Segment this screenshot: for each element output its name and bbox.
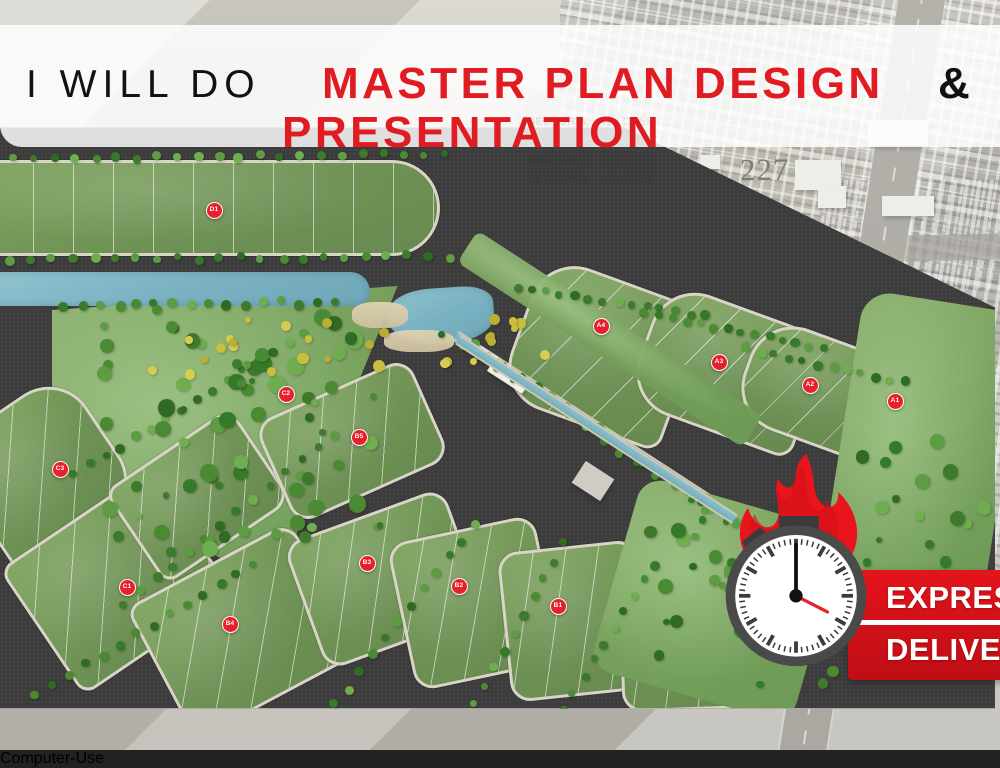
plan-tree: [238, 526, 250, 538]
plan-tree: [539, 574, 546, 581]
plan-tree: [131, 431, 141, 441]
plan-tree: [901, 376, 910, 385]
plan-tree: [669, 314, 677, 322]
plan-tree: [392, 617, 402, 627]
plan-tree: [131, 481, 142, 492]
plan-tree: [377, 522, 384, 529]
lot-marker-b2[interactable]: B2: [451, 578, 468, 595]
plan-tree: [650, 561, 660, 571]
plan-tree: [431, 568, 441, 578]
plan-tree: [158, 399, 176, 417]
plan-tree: [234, 455, 247, 468]
lot-marker-b3[interactable]: B3: [359, 555, 376, 572]
plan-tree: [599, 641, 607, 649]
plan-tree: [233, 153, 243, 163]
plan-tree: [186, 548, 194, 556]
plan-tree: [215, 521, 224, 530]
plan-tree: [654, 650, 665, 661]
plan-tree: [248, 495, 258, 505]
plan-tree: [325, 381, 338, 394]
plan-tree: [289, 483, 304, 498]
plan-tree: [116, 301, 126, 311]
plan-tree: [167, 298, 176, 307]
plan-tree: [285, 338, 294, 347]
plan-tree: [305, 335, 312, 342]
plan-tree: [48, 681, 56, 689]
plan-tree: [489, 314, 500, 325]
plan-tree: [641, 575, 649, 583]
plan-tree: [116, 641, 125, 650]
plan-tree: [221, 300, 231, 310]
plan-tree: [69, 470, 77, 478]
plan-tree: [229, 338, 237, 346]
plan-tree: [166, 547, 176, 557]
plan-tree: [308, 500, 324, 516]
plan-tree: [540, 350, 550, 360]
plan-tree: [290, 515, 306, 531]
express-delivery-badge: EXPRESS DELIVERY: [700, 452, 1000, 712]
plan-tree: [320, 253, 328, 261]
plan-tree: [243, 361, 251, 369]
plan-tree: [154, 525, 169, 540]
plan-tree: [5, 256, 15, 266]
plan-tree: [804, 343, 812, 351]
plan-tree: [370, 393, 376, 399]
plan-tree: [313, 298, 322, 307]
plan-tree: [174, 253, 181, 260]
plan-tree: [251, 407, 265, 421]
plan-tree: [237, 252, 245, 260]
plan-tree: [420, 584, 428, 592]
plan-tree: [259, 297, 268, 306]
plan-tree: [299, 255, 308, 264]
plan-tree: [30, 691, 38, 699]
plan-tree: [471, 520, 480, 529]
plan-tree: [183, 601, 192, 610]
plan-tree: [100, 339, 114, 353]
plan-beach-sand: [352, 302, 408, 328]
plan-tree: [379, 328, 388, 337]
plan-tree: [173, 153, 181, 161]
lot-marker-a2[interactable]: A2: [802, 377, 819, 394]
plan-tree: [163, 492, 169, 498]
plan-tree: [200, 464, 218, 482]
title-banner: I WILL DO MASTER PLAN DESIGN & PRESENTAT…: [0, 25, 1000, 147]
plan-tree: [724, 324, 733, 333]
plan-tree: [195, 256, 204, 265]
plan-tree: [219, 531, 230, 542]
plan-tree: [307, 523, 317, 533]
plan-tree: [930, 434, 944, 448]
plan-tree: [297, 353, 308, 364]
plan-tree: [423, 252, 432, 261]
plan-tree: [639, 308, 648, 317]
plan-tree: [46, 254, 55, 263]
plan-tree: [148, 366, 157, 375]
title-ampersand: &: [938, 59, 970, 109]
plan-tree: [79, 301, 89, 311]
plan-tree: [741, 342, 750, 351]
express-label: EXPRESS: [886, 580, 1000, 616]
lot-marker-c3[interactable]: C3: [52, 461, 69, 478]
plan-tree: [843, 365, 852, 374]
title-highlight-line1: MASTER PLAN DESIGN: [322, 59, 884, 109]
plan-tree: [769, 350, 776, 357]
plan-tree: [70, 154, 79, 163]
plan-tree: [612, 625, 619, 632]
plan-tree: [349, 495, 366, 512]
plan-tree: [131, 628, 140, 637]
plan-tree: [615, 299, 624, 308]
lot-marker-c1[interactable]: C1: [119, 579, 136, 596]
plan-tree: [302, 472, 315, 485]
plan-tree: [231, 507, 240, 516]
thumbnail-canvas: 227: [0, 0, 1000, 750]
lot-marker-b4[interactable]: B4: [222, 616, 239, 633]
plan-tree: [299, 455, 306, 462]
plan-tree: [100, 417, 113, 430]
plan-tree: [333, 460, 344, 471]
legend-row: SECTOR D 66 LOTES: [528, 173, 654, 185]
stopwatch-icon: [720, 516, 872, 668]
plan-tree: [194, 152, 204, 162]
lot-marker-c2[interactable]: C2: [278, 386, 295, 403]
delivery-label: DELIVERY: [886, 632, 1000, 668]
plan-tree: [319, 429, 326, 436]
plan-tree: [198, 591, 206, 599]
plan-tree: [152, 305, 162, 315]
plan-tree: [671, 523, 686, 538]
plan-tree: [691, 533, 699, 541]
plan-tree: [305, 413, 314, 422]
plan-tree: [9, 154, 16, 161]
plan-tree: [81, 659, 89, 667]
plan-tree: [619, 607, 627, 615]
plan-tree: [133, 155, 142, 164]
plan-tree: [185, 336, 192, 343]
satellite-building: [818, 186, 846, 208]
parcel-number: 227: [740, 152, 790, 189]
plan-tree: [766, 332, 775, 341]
plan-tree: [511, 325, 518, 332]
plan-tree: [193, 395, 202, 404]
plan-tree: [294, 300, 305, 311]
plan-tree: [136, 586, 145, 595]
plan-tree: [440, 359, 449, 368]
plan-tree: [519, 611, 529, 621]
plan-tree: [113, 531, 124, 542]
legend-sector-name: SECTOR D: [528, 173, 600, 185]
plan-tree: [231, 570, 239, 578]
title-plain-text: I WILL DO: [26, 63, 261, 107]
plan-tree: [381, 634, 389, 642]
plan-tree: [670, 615, 683, 628]
plan-tree: [311, 399, 317, 405]
plan-tree: [340, 254, 348, 262]
plan-tree: [663, 619, 670, 626]
plan-tree: [550, 559, 558, 567]
lot-marker-b5[interactable]: B5: [351, 429, 368, 446]
plan-tree: [115, 444, 125, 454]
plan-tree: [487, 337, 496, 346]
plan-tree: [281, 468, 288, 475]
plan-tree: [583, 295, 592, 304]
lot-marker-a4[interactable]: A4: [593, 318, 610, 335]
plan-tree: [345, 686, 354, 695]
plan-tree: [559, 538, 567, 546]
plan-tree: [438, 331, 445, 338]
plan-tree: [885, 377, 892, 384]
legend-sector-lots: 66 LOTES: [600, 173, 654, 185]
plan-tree: [202, 541, 218, 557]
plan-tree: [119, 601, 127, 609]
plan-tree: [489, 663, 498, 672]
plan-tree: [179, 438, 189, 448]
plan-tree: [871, 373, 881, 383]
plan-tree: [628, 301, 635, 308]
plan-tree: [813, 361, 823, 371]
plan-tree: [201, 356, 207, 362]
plan-tree: [271, 529, 281, 539]
plan-tree: [97, 366, 112, 381]
lot-marker-a3[interactable]: A3: [711, 354, 728, 371]
plan-tree: [644, 526, 656, 538]
plan-tree: [26, 256, 34, 264]
plan-tree: [99, 652, 108, 661]
plan-tree: [215, 482, 222, 489]
plan-tree: [820, 344, 828, 352]
plan-tree: [457, 538, 466, 547]
plan-tree: [153, 572, 163, 582]
lot-marker-d1[interactable]: D1: [206, 202, 223, 219]
plan-tree: [166, 609, 174, 617]
plan-tree: [570, 291, 579, 300]
plan-tree: [93, 155, 101, 163]
plan-tree: [256, 255, 264, 263]
plan-tree: [700, 310, 709, 319]
plan-tree: [368, 649, 378, 659]
title-highlight-line2: PRESENTATION: [282, 108, 662, 158]
lot-marker-a1[interactable]: A1: [887, 393, 904, 410]
plan-tree: [528, 286, 535, 293]
plan-tree: [168, 563, 176, 571]
plan-tree: [331, 298, 339, 306]
plan-tree: [790, 338, 799, 347]
plan-tree: [217, 579, 227, 589]
plan-tree: [96, 301, 104, 309]
plan-tree: [582, 673, 590, 681]
lot-marker-b1[interactable]: B1: [550, 598, 567, 615]
plan-tree: [354, 667, 363, 676]
plan-tree: [736, 329, 744, 337]
plan-tree: [219, 412, 235, 428]
plan-tree: [531, 592, 540, 601]
plan-tree: [324, 356, 331, 363]
satellite-building: [882, 196, 934, 216]
plan-tree: [655, 311, 663, 319]
plan-tree: [446, 551, 454, 559]
plan-tree: [215, 152, 225, 162]
plan-tree: [58, 302, 68, 312]
plan-tree: [86, 459, 94, 467]
plan-tree: [446, 254, 455, 263]
plan-tree: [511, 630, 519, 638]
plan-tree: [709, 324, 719, 334]
plan-tree: [365, 340, 374, 349]
plan-tree: [555, 291, 562, 298]
plan-tree: [267, 482, 274, 489]
plan-tree: [631, 592, 638, 599]
